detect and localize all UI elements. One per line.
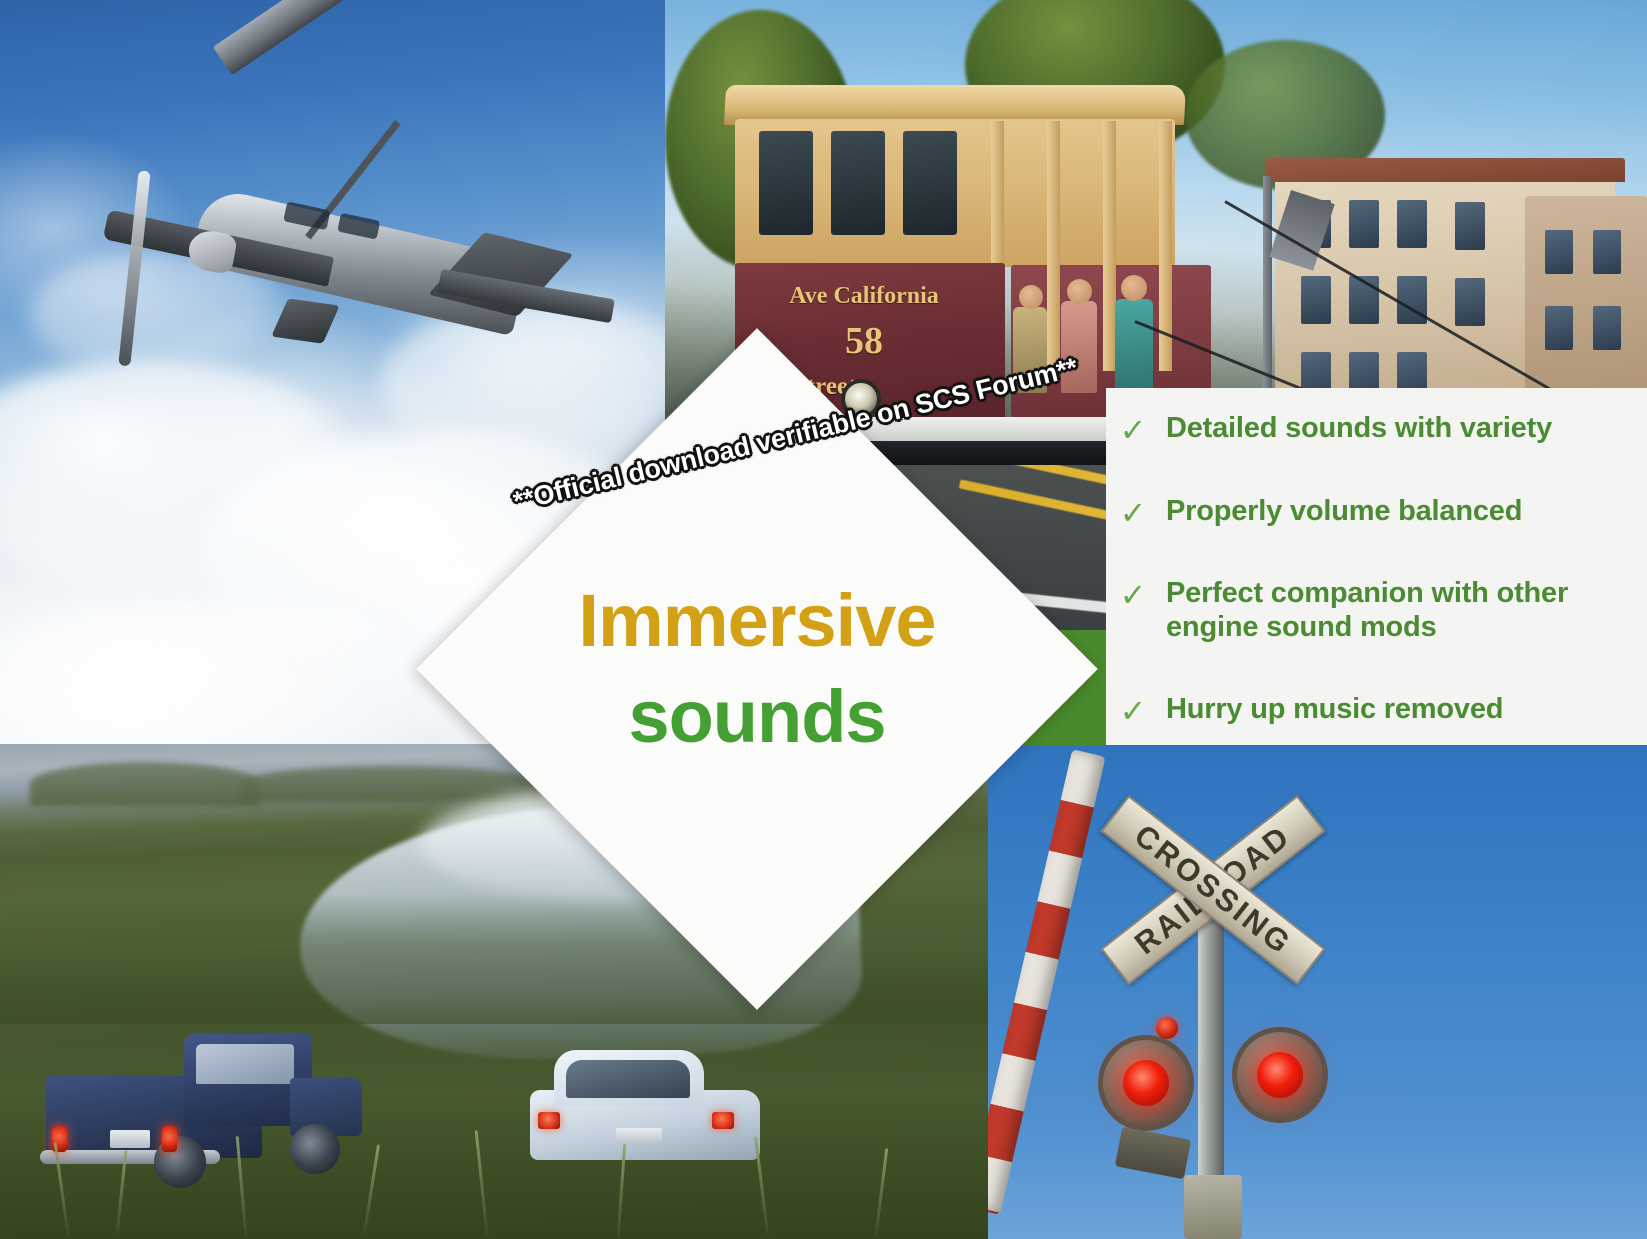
building-window <box>1455 278 1485 326</box>
building-window <box>1397 200 1427 248</box>
crossing-signal-lamp-right <box>1232 1027 1328 1123</box>
feature-label: Perfect companion with other engine soun… <box>1166 577 1623 644</box>
feature-label: Properly volume balanced <box>1166 495 1522 529</box>
features-panel: ✓ Detailed sounds with variety ✓ Properl… <box>1106 388 1647 745</box>
promo-poster: Ave California 58 Streets RAILROAD CROSS… <box>0 0 1647 1239</box>
passenger-head <box>1019 285 1043 309</box>
truck-license-plate <box>110 1130 150 1148</box>
cable-car-window <box>831 131 885 235</box>
building-window <box>1593 230 1621 274</box>
sedan-car <box>530 1050 760 1182</box>
building-window <box>1545 306 1573 350</box>
checkmark-icon: ✓ <box>1118 412 1148 446</box>
checkmark-icon: ✓ <box>1118 577 1148 611</box>
sedan-license-plate <box>616 1128 662 1144</box>
feature-item: ✓ Detailed sounds with variety <box>1118 412 1629 446</box>
gate-arm-light <box>1156 1017 1178 1039</box>
passenger-head <box>1121 275 1147 301</box>
distant-hill <box>240 766 540 802</box>
photo-railroad-crossing: RAILROAD CROSSING <box>988 745 1647 1239</box>
aircraft-illustration <box>65 0 631 426</box>
truck-window <box>196 1044 294 1084</box>
cable-car-sign-line1: Ave California <box>749 283 979 310</box>
distant-hill <box>30 762 260 806</box>
cable-car-window <box>759 131 813 235</box>
building-window <box>1545 230 1573 274</box>
building-window <box>1593 306 1621 350</box>
truck-tail-light <box>162 1126 177 1152</box>
sedan-tail-light <box>538 1112 560 1129</box>
sedan-rear-window <box>566 1060 690 1098</box>
building-window <box>1455 202 1485 250</box>
cable-car-window <box>903 131 957 235</box>
crossing-signal-lamp-left <box>1098 1035 1194 1131</box>
truck-wheel <box>290 1124 340 1174</box>
cable-car-post <box>1047 121 1060 371</box>
sedan-tail-light <box>712 1112 734 1129</box>
feature-label: Hurry up music removed <box>1166 693 1503 727</box>
aircraft-propeller <box>118 170 150 366</box>
building-window <box>1349 200 1379 248</box>
passenger <box>1115 299 1153 399</box>
building-window <box>1301 276 1331 324</box>
feature-item: ✓ Perfect companion with other engine so… <box>1118 577 1629 644</box>
passenger-head <box>1067 279 1092 304</box>
crossbuck-sign: RAILROAD CROSSING <box>1108 785 1318 995</box>
building-roof <box>1265 158 1625 182</box>
signal-lens <box>1123 1060 1169 1106</box>
checkmark-icon: ✓ <box>1118 693 1148 727</box>
feature-item: ✓ Properly volume balanced <box>1118 495 1629 529</box>
aircraft-landing-gear <box>271 298 339 343</box>
feature-label: Detailed sounds with variety <box>1166 412 1552 446</box>
pickup-truck <box>46 1032 358 1182</box>
crossing-signal-base <box>1184 1175 1242 1239</box>
feature-item: ✓ Hurry up music removed <box>1118 693 1629 727</box>
checkmark-icon: ✓ <box>1118 495 1148 529</box>
signal-lens <box>1257 1052 1303 1098</box>
